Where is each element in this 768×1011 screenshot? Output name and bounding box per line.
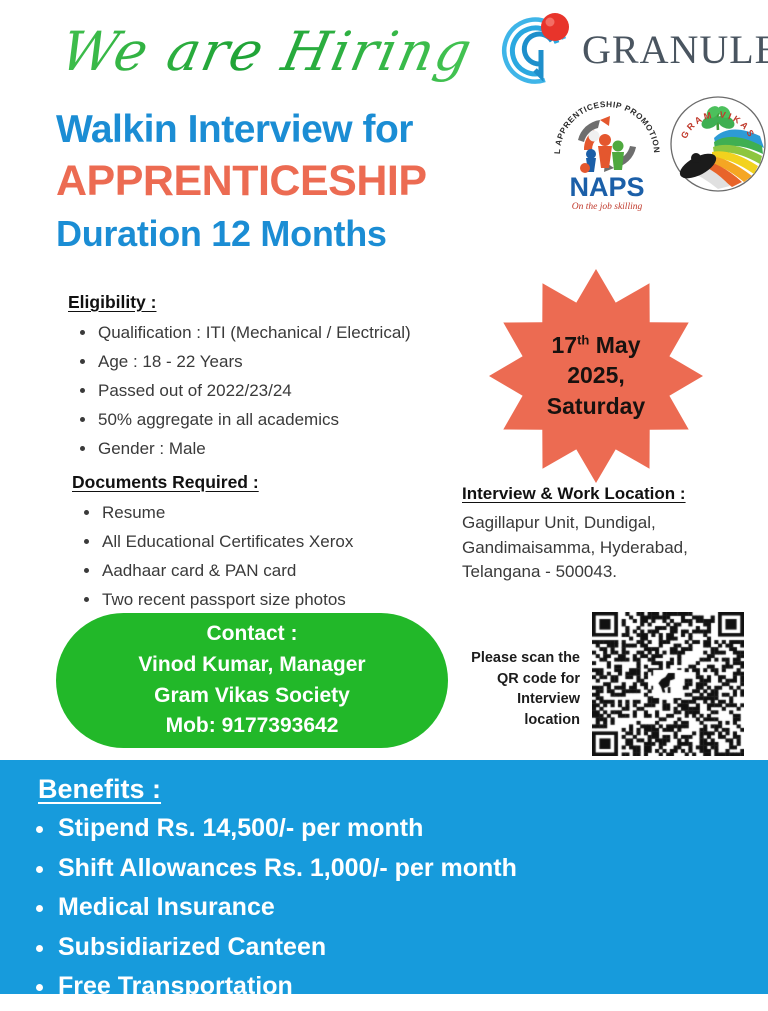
headline-walkin-interview: Walkin Interview for [56, 108, 413, 152]
qr-code[interactable] [592, 612, 744, 756]
documents-list: Resume All Educational Certificates Xero… [72, 502, 353, 610]
date-line-1: 17th May [551, 332, 640, 359]
date-day-suffix: th [577, 333, 589, 348]
svg-text:On the job skilling: On the job skilling [572, 202, 643, 212]
date-badge-text: 17th May 2025, Saturday [489, 266, 703, 486]
address-line: Gandimaisamma, Hyderabad, [462, 536, 762, 561]
date-day: 17 [551, 332, 577, 358]
contact-label: Contact : [207, 619, 298, 650]
address-line: Gagillapur Unit, Dundigal, [462, 511, 762, 536]
qr-caption-line: QR code for [455, 669, 580, 690]
benefits-list: Stipend Rs. 14,500/- per month Shift All… [26, 813, 517, 1011]
date-month: May [596, 332, 641, 358]
svg-text:NAPS: NAPS [569, 172, 644, 202]
qr-code-canvas[interactable] [592, 612, 744, 756]
list-item: Medical Insurance [26, 892, 517, 923]
naps-emblem-icon: NATIONAL APPRENTICESHIP PROMOTION SCHEME… [548, 92, 666, 214]
address-line: Telangana - 500043. [462, 560, 762, 585]
list-item: Aadhaar card & PAN card [72, 560, 353, 581]
qr-caption-line: location [455, 710, 580, 731]
eligibility-heading: Eligibility : [68, 292, 411, 313]
naps-logo: NATIONAL APPRENTICESHIP PROMOTION SCHEME… [548, 92, 666, 214]
location-section: Interview & Work Location : Gagillapur U… [462, 484, 762, 585]
list-item: Qualification : ITI (Mechanical / Electr… [68, 322, 411, 343]
date-badge: 17th May 2025, Saturday [489, 266, 703, 486]
qr-caption-line: Please scan the [455, 648, 580, 669]
date-weekday: Saturday [547, 393, 645, 420]
location-address: Gagillapur Unit, Dundigal, Gandimaisamma… [462, 511, 762, 585]
list-item: Two recent passport size photos [72, 589, 353, 610]
contact-mobile[interactable]: Mob: 9177393642 [166, 711, 339, 742]
list-item: 50% aggregate in all academics [68, 409, 411, 430]
headline-apprenticeship: APPRENTICESHIP [56, 157, 427, 206]
list-item: Resume [72, 502, 353, 523]
date-year: 2025, [567, 362, 625, 389]
documents-section: Documents Required : Resume All Educatio… [72, 472, 353, 618]
list-item: Free Transportation [26, 971, 517, 1002]
list-item: Passed out of 2022/23/24 [68, 380, 411, 401]
granules-logo: GRANULES [500, 10, 762, 86]
contact-name: Vinod Kumar, Manager [138, 650, 365, 681]
headline-duration: Duration 12 Months [56, 213, 387, 255]
benefits-section: Benefits : Stipend Rs. 14,500/- per mont… [0, 760, 768, 994]
granules-spiral-icon [500, 10, 578, 86]
qr-caption-line: Interview [455, 689, 580, 710]
documents-heading: Documents Required : [72, 472, 353, 493]
eligibility-list: Qualification : ITI (Mechanical / Electr… [68, 322, 411, 459]
benefits-heading: Benefits : [38, 774, 161, 805]
contact-organisation: Gram Vikas Society [154, 681, 350, 712]
list-item: Gender : Male [68, 438, 411, 459]
gram-vikas-emblem-icon: GRAM VIKAS [668, 92, 768, 196]
qr-caption: Please scan the QR code for Interview lo… [455, 648, 580, 730]
list-item: Subsidiarized Canteen [26, 932, 517, 963]
list-item: Shift Allowances Rs. 1,000/- per month [26, 853, 517, 884]
granules-wordmark: GRANULES [582, 26, 768, 73]
eligibility-section: Eligibility : Qualification : ITI (Mecha… [68, 292, 411, 467]
list-item: All Educational Certificates Xerox [72, 531, 353, 552]
contact-box[interactable]: Contact : Vinod Kumar, Manager Gram Vika… [56, 613, 448, 748]
gram-vikas-logo: GRAM VIKAS [668, 92, 768, 196]
we-are-hiring-script: We are Hiring [55, 20, 479, 83]
recruitment-poster: We are Hiring Walkin Interview for APPRE… [0, 0, 768, 994]
location-heading: Interview & Work Location : [462, 484, 762, 504]
list-item: Stipend Rs. 14,500/- per month [26, 813, 517, 844]
list-item: Age : 18 - 22 Years [68, 351, 411, 372]
